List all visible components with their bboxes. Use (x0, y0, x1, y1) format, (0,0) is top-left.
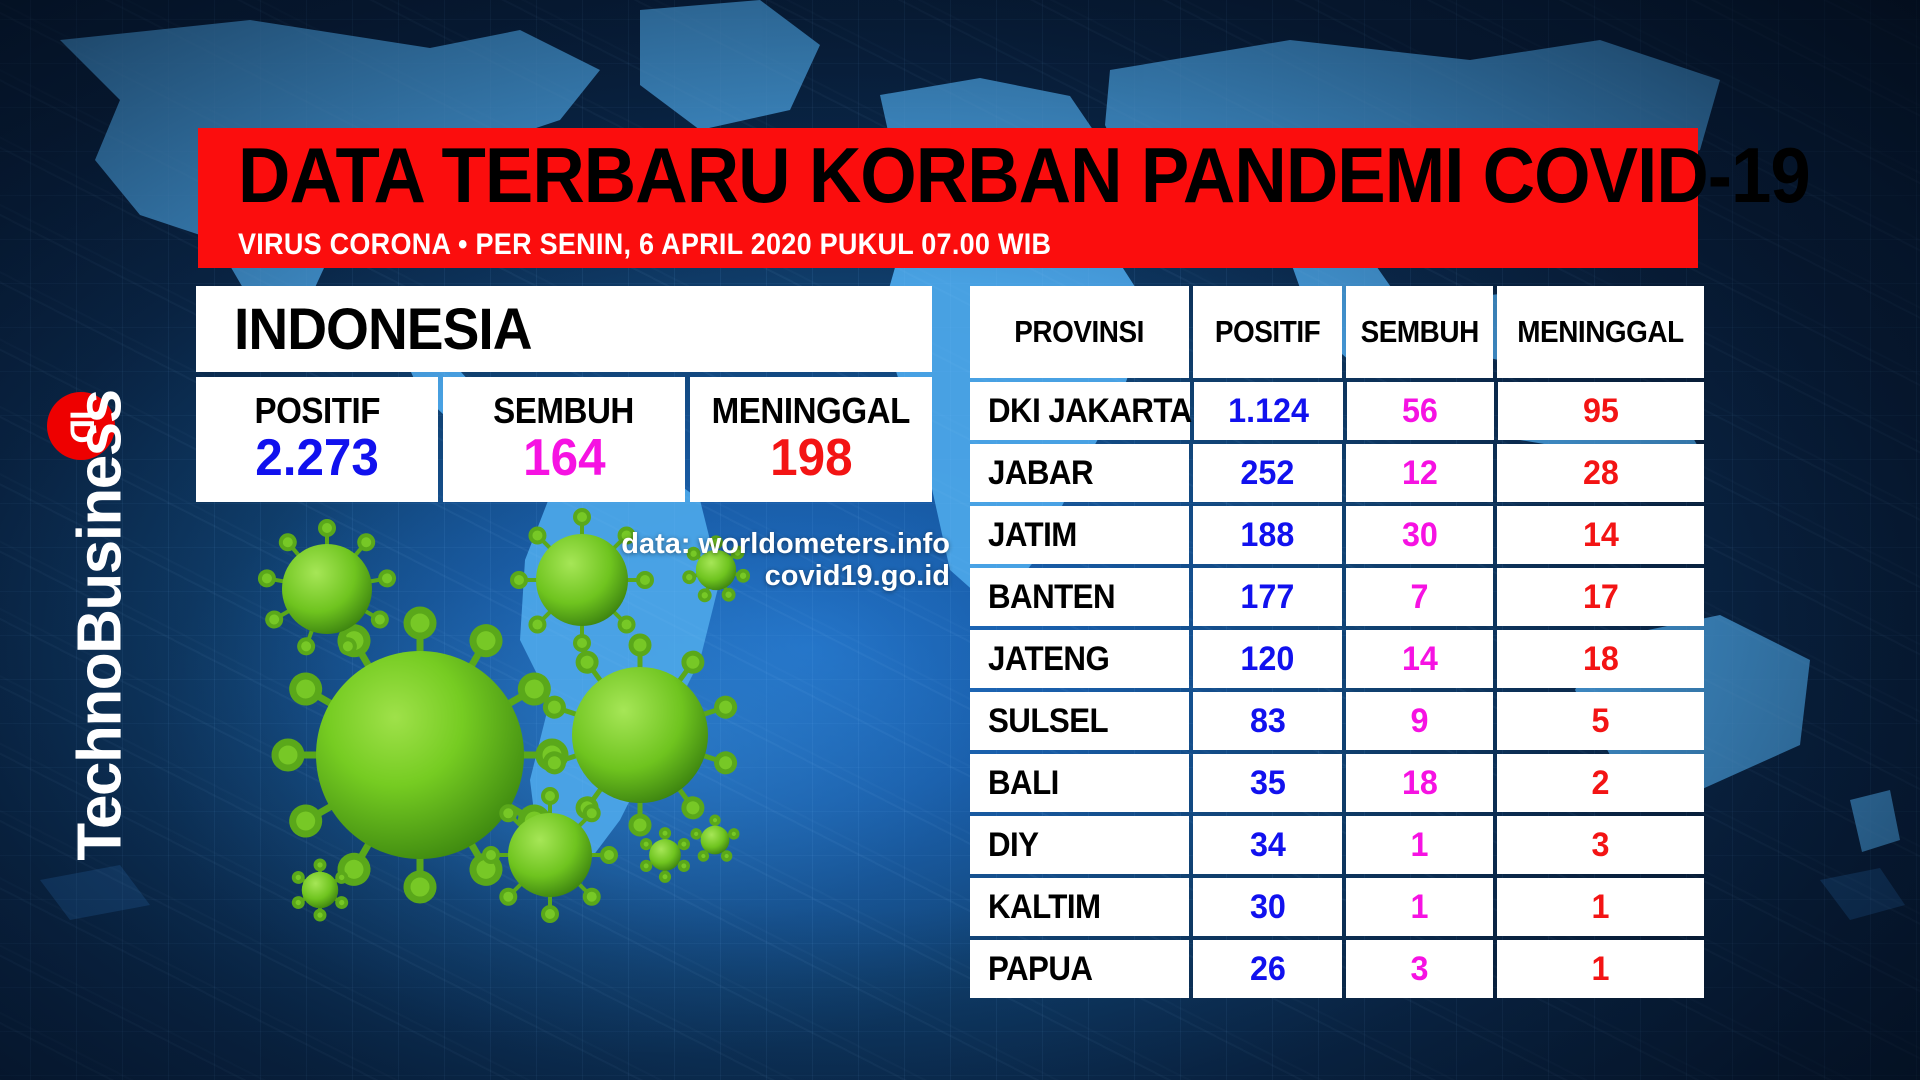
value-sembuh: 1 (1411, 888, 1429, 927)
cell-positif: 1.124 (1194, 382, 1343, 440)
cell-positif: 34 (1193, 816, 1342, 874)
cell-meninggal: 5 (1497, 692, 1704, 750)
cell-sembuh: 9 (1346, 692, 1493, 750)
table-row: DIY3413 (970, 816, 1704, 874)
table-row: PAPUA2631 (970, 940, 1704, 998)
data-source-credit: data: worldometers.info covid19.go.id (560, 528, 950, 593)
cell-provinsi: JATENG (970, 630, 1189, 688)
cell-sembuh: 14 (1346, 630, 1493, 688)
table-row: JATENG1201418 (970, 630, 1704, 688)
cell-positif: 35 (1193, 754, 1342, 812)
table-row: BALI35182 (970, 754, 1704, 812)
value-positif: 34 (1249, 826, 1285, 865)
header-banner: DATA TERBARU KORBAN PANDEMI COVID-19 VIR… (198, 128, 1698, 268)
province-name: JATENG (988, 640, 1109, 679)
stat-card-sembuh: SEMBUH 164 (443, 377, 685, 502)
country-name-bar: INDONESIA (196, 286, 932, 372)
value-sembuh: 9 (1411, 702, 1429, 741)
stat-card-meninggal: MENINGGAL 198 (690, 377, 932, 502)
value-positif: 120 (1240, 640, 1294, 679)
column-header-sembuh-label: SEMBUH (1360, 314, 1478, 350)
table-row: SULSEL8395 (970, 692, 1704, 750)
cell-positif: 252 (1193, 444, 1342, 502)
table-row: DKI JAKARTA1.1245695 (970, 382, 1704, 440)
cell-provinsi: KALTIM (970, 878, 1189, 936)
column-header-meninggal-label: MENINGGAL (1517, 314, 1683, 350)
value-meninggal: 95 (1583, 392, 1619, 431)
table-body: DKI JAKARTA1.1245695JABAR2521228JATIM188… (970, 382, 1704, 998)
page-subtitle: VIRUS CORONA • PER SENIN, 6 APRIL 2020 P… (238, 228, 1051, 262)
stat-label-sembuh: SEMBUH (494, 393, 635, 429)
country-stats-row: POSITIF 2.273 SEMBUH 164 MENINGGAL 198 (196, 377, 932, 502)
stat-card-positif: POSITIF 2.273 (196, 377, 438, 502)
column-header-provinsi-label: PROVINSI (1015, 314, 1145, 350)
value-positif: 252 (1240, 454, 1294, 493)
value-sembuh: 1 (1411, 826, 1429, 865)
country-name: INDONESIA (234, 296, 532, 363)
cell-sembuh: 56 (1347, 382, 1494, 440)
column-header-sembuh: SEMBUH (1346, 286, 1493, 378)
value-meninggal: 2 (1592, 764, 1610, 803)
column-header-positif: POSITIF (1193, 286, 1342, 378)
country-summary-panel: INDONESIA POSITIF 2.273 SEMBUH 164 MENIN… (196, 286, 932, 502)
source-line-1: data: worldometers.info (560, 528, 950, 560)
cell-meninggal: 2 (1497, 754, 1704, 812)
value-meninggal: 28 (1583, 454, 1619, 493)
value-meninggal: 18 (1583, 640, 1619, 679)
table-header-row: PROVINSI POSITIF SEMBUH MENINGGAL (970, 286, 1704, 378)
province-name: KALTIM (988, 888, 1101, 927)
province-name: JATIM (988, 516, 1077, 555)
value-sembuh: 30 (1402, 516, 1438, 555)
province-name: BANTEN (988, 578, 1115, 617)
cell-sembuh: 18 (1346, 754, 1493, 812)
value-meninggal: 14 (1583, 516, 1619, 555)
cell-provinsi: DKI JAKARTA (970, 382, 1190, 440)
cell-provinsi: BALI (970, 754, 1189, 812)
cell-meninggal: 14 (1497, 506, 1704, 564)
value-meninggal: 17 (1583, 578, 1619, 617)
value-meninggal: 5 (1592, 702, 1610, 741)
value-positif: 83 (1249, 702, 1285, 741)
cell-sembuh: 1 (1346, 816, 1493, 874)
province-name: DKI JAKARTA (988, 392, 1192, 431)
cell-meninggal: 17 (1497, 568, 1704, 626)
column-header-meninggal: MENINGGAL (1497, 286, 1704, 378)
cell-sembuh: 7 (1346, 568, 1493, 626)
cell-positif: 188 (1193, 506, 1342, 564)
cell-provinsi: JABAR (970, 444, 1189, 502)
cell-provinsi: PAPUA (970, 940, 1189, 998)
stat-value-sembuh: 164 (523, 431, 605, 486)
value-meninggal: 1 (1592, 950, 1610, 989)
cell-provinsi: BANTEN (970, 568, 1189, 626)
value-positif: 30 (1249, 888, 1285, 927)
cell-sembuh: 3 (1346, 940, 1493, 998)
stat-label-meninggal: MENINGGAL (712, 393, 910, 429)
cell-meninggal: 28 (1497, 444, 1704, 502)
value-sembuh: 14 (1402, 640, 1438, 679)
value-sembuh: 7 (1411, 578, 1429, 617)
stat-value-positif: 2.273 (255, 431, 379, 486)
cell-positif: 30 (1193, 878, 1342, 936)
cell-positif: 177 (1193, 568, 1342, 626)
stat-value-meninggal: 198 (770, 431, 852, 486)
cell-provinsi: DIY (970, 816, 1189, 874)
column-header-positif-label: POSITIF (1215, 314, 1320, 350)
cell-sembuh: 12 (1346, 444, 1493, 502)
value-sembuh: 56 (1402, 392, 1438, 431)
value-positif: 1.124 (1228, 392, 1309, 431)
province-name: PAPUA (988, 950, 1092, 989)
value-sembuh: 3 (1411, 950, 1429, 989)
cell-meninggal: 1 (1497, 878, 1704, 936)
cell-positif: 120 (1193, 630, 1342, 688)
brand-logo: ID TechnoBusiness (0, 0, 155, 1080)
table-row: BANTEN177717 (970, 568, 1704, 626)
province-name: BALI (988, 764, 1059, 803)
cell-meninggal: 18 (1497, 630, 1704, 688)
value-positif: 26 (1249, 950, 1285, 989)
province-data-table: PROVINSI POSITIF SEMBUH MENINGGAL DKI JA… (970, 286, 1704, 1002)
column-header-provinsi: PROVINSI (970, 286, 1189, 378)
value-sembuh: 12 (1402, 454, 1438, 493)
table-row: JATIM1883014 (970, 506, 1704, 564)
table-row: KALTIM3011 (970, 878, 1704, 936)
province-name: JABAR (988, 454, 1093, 493)
cell-meninggal: 3 (1497, 816, 1704, 874)
value-meninggal: 3 (1592, 826, 1610, 865)
province-name: SULSEL (988, 702, 1108, 741)
stat-label-positif: POSITIF (254, 393, 380, 429)
value-positif: 177 (1240, 578, 1294, 617)
page-title: DATA TERBARU KORBAN PANDEMI COVID-19 (238, 136, 1577, 214)
brand-name: TechnoBusiness (65, 276, 136, 976)
cell-provinsi: JATIM (970, 506, 1189, 564)
source-line-2: covid19.go.id (560, 560, 950, 592)
value-sembuh: 18 (1402, 764, 1438, 803)
cell-positif: 83 (1193, 692, 1342, 750)
cell-meninggal: 95 (1498, 382, 1704, 440)
value-positif: 35 (1249, 764, 1285, 803)
cell-meninggal: 1 (1497, 940, 1704, 998)
value-meninggal: 1 (1592, 888, 1610, 927)
cell-positif: 26 (1193, 940, 1342, 998)
province-name: DIY (988, 826, 1038, 865)
table-row: JABAR2521228 (970, 444, 1704, 502)
cell-sembuh: 1 (1346, 878, 1493, 936)
cell-sembuh: 30 (1346, 506, 1493, 564)
value-positif: 188 (1240, 516, 1294, 555)
cell-provinsi: SULSEL (970, 692, 1189, 750)
